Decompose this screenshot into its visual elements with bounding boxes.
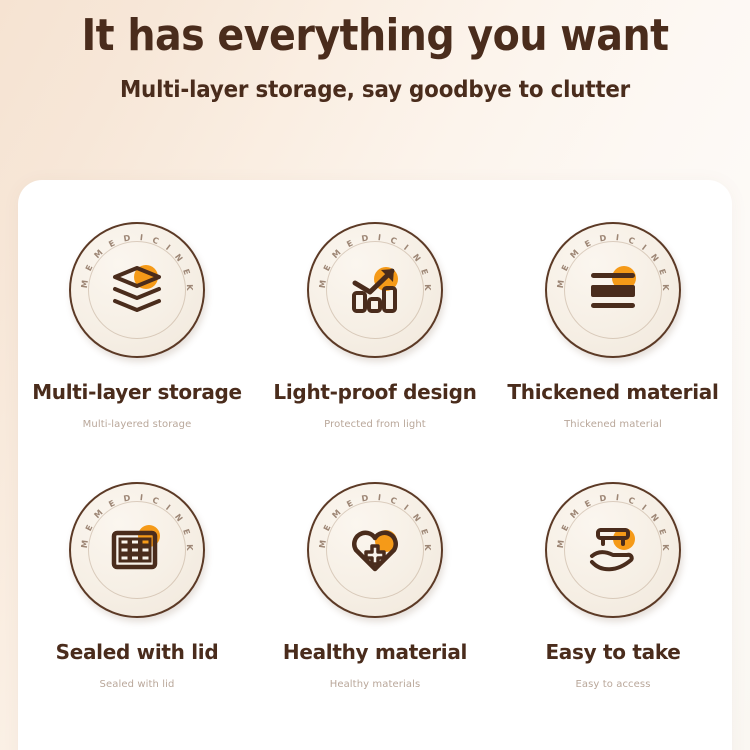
feature-subtitle: Protected from light (324, 419, 426, 430)
badge-thickened-material: H O M E M E D I C I N E K I T (545, 222, 681, 358)
badge-easy-to-take: H O M E M E D I C I N E K I T (545, 482, 681, 618)
feature-item-thickened-material[interactable]: H O M E M E D I C I N E K I T Thickened … (494, 180, 732, 442)
feature-title: Thickened material (507, 380, 718, 404)
compartment-grid-icon (107, 522, 167, 578)
feature-item-sealed-with-lid[interactable]: H O M E M E D I C I N E K I T (18, 442, 256, 702)
feature-item-multi-layer-storage[interactable]: H O M E M E D I C I N E K I T Multi-laye… (18, 180, 256, 442)
feature-title: Sealed with lid (56, 640, 219, 664)
heart-cross-icon (345, 522, 405, 578)
feature-grid: H O M E M E D I C I N E K I T Multi-laye… (18, 180, 732, 702)
badge-sealed-with-lid: H O M E M E D I C I N E K I T (69, 482, 205, 618)
feature-subtitle: Multi-layered storage (83, 419, 192, 430)
feature-item-light-proof-design[interactable]: H O M E M E D I C I N E K I T Light-proo… (256, 180, 494, 442)
feature-title: Light-proof design (273, 380, 476, 404)
page-header: It has everything you want Multi-layer s… (0, 0, 750, 103)
feature-subtitle: Thickened material (564, 419, 662, 430)
hand-holding-box-icon (583, 522, 643, 578)
badge-healthy-material: H O M E M E D I C I N E K I T (307, 482, 443, 618)
growth-chart-icon (345, 262, 405, 318)
badge-multi-layer-storage: H O M E M E D I C I N E K I T (69, 222, 205, 358)
feature-card: H O M E M E D I C I N E K I T Multi-laye… (18, 180, 732, 750)
feature-title: Multi-layer storage (32, 380, 242, 404)
page-subtitle: Multi-layer storage, say goodbye to clut… (26, 63, 724, 103)
promo-page: It has everything you want Multi-layer s… (0, 0, 750, 750)
feature-subtitle: Sealed with lid (100, 679, 175, 690)
badge-light-proof-design: H O M E M E D I C I N E K I T (307, 222, 443, 358)
feature-subtitle: Healthy materials (330, 679, 421, 690)
feature-title: Healthy material (283, 640, 467, 664)
feature-item-easy-to-take[interactable]: H O M E M E D I C I N E K I T Easy to ta… (494, 442, 732, 702)
page-title: It has everything you want (38, 0, 713, 63)
layers-icon (107, 262, 167, 318)
feature-subtitle: Easy to access (575, 679, 650, 690)
thick-layers-icon (583, 262, 643, 318)
feature-title: Easy to take (545, 640, 680, 664)
feature-item-healthy-material[interactable]: H O M E M E D I C I N E K I T Healthy ma… (256, 442, 494, 702)
